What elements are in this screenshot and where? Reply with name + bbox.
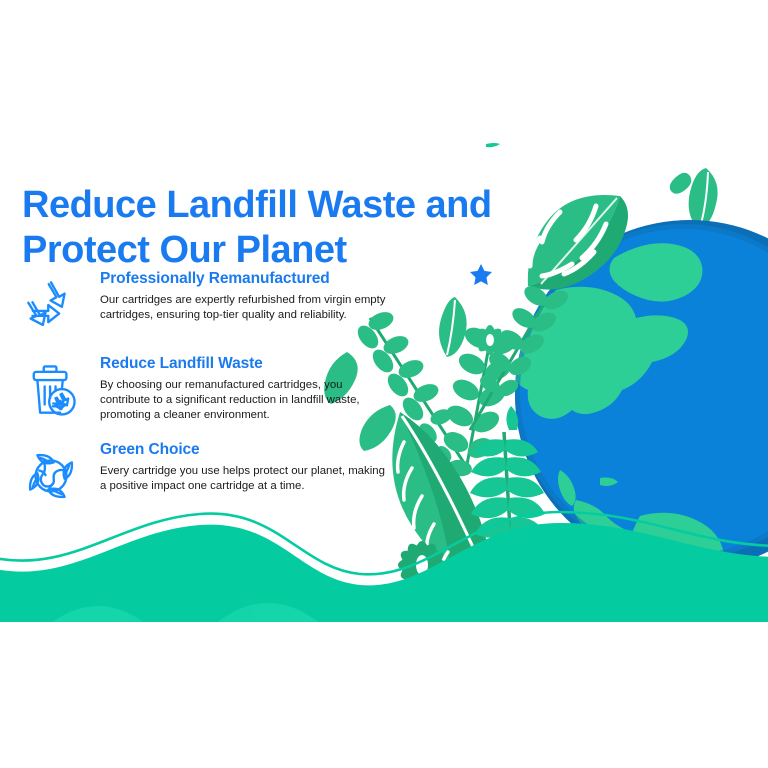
feature-item-reduce-landfill-waste: Reduce Landfill Waste By choosing our re… [22, 355, 387, 424]
recycle-arrows-icon [22, 276, 80, 334]
recycling-bin-icon [22, 361, 80, 419]
banner-content: Reduce Landfill Waste and Protect Our Pl… [0, 0, 768, 768]
headline-line-2: Protect Our Planet [22, 228, 552, 273]
feature-title: Reduce Landfill Waste [100, 355, 387, 372]
feature-title: Green Choice [100, 441, 387, 458]
globe-leaves-icon [22, 447, 80, 505]
feature-item-green-choice: Green Choice Every cartridge you use hel… [22, 441, 387, 494]
feature-title: Professionally Remanufactured [100, 270, 387, 287]
feature-description: Every cartridge you use helps protect ou… [100, 464, 387, 494]
page-title: Reduce Landfill Waste and Protect Our Pl… [22, 183, 552, 273]
feature-description: By choosing our remanufactured cartridge… [100, 378, 387, 423]
headline-line-1: Reduce Landfill Waste and [22, 183, 552, 228]
feature-description: Our cartridges are expertly refurbished … [100, 293, 387, 323]
feature-item-professionally-remanufactured: Professionally Remanufactured Our cartri… [22, 270, 387, 323]
eco-promo-banner: Reduce Landfill Waste and Protect Our Pl… [0, 0, 768, 768]
